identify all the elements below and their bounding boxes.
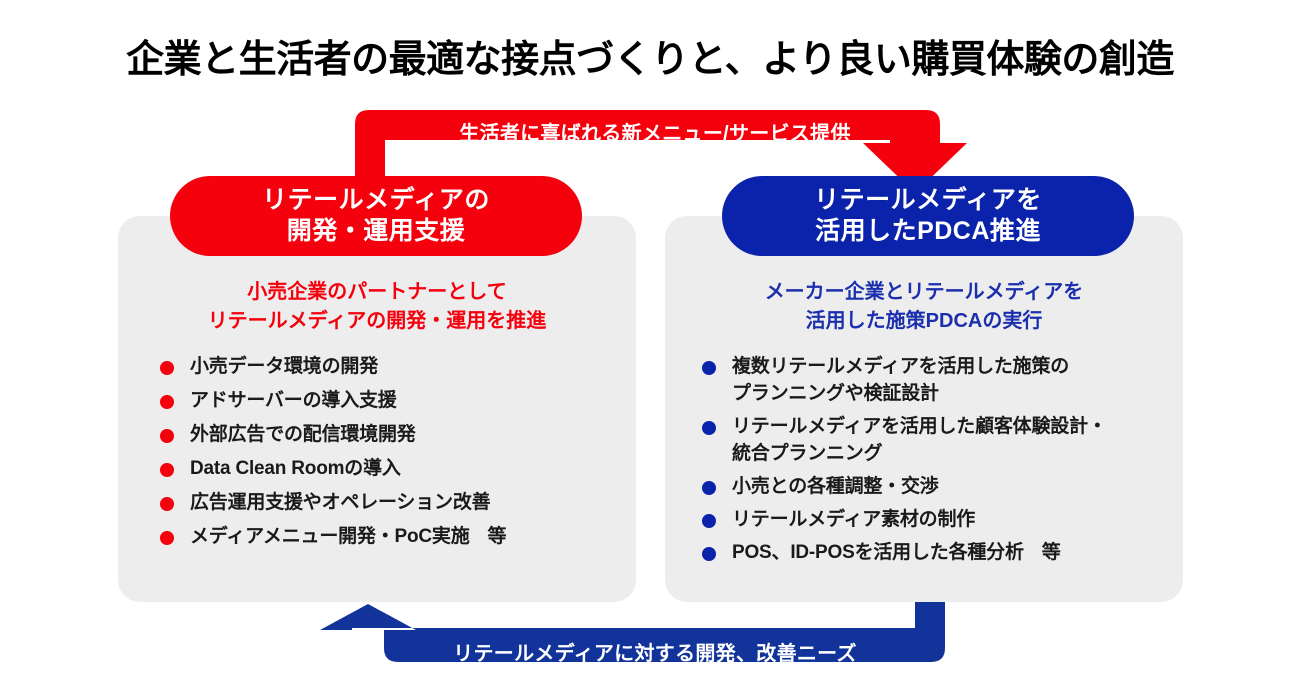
bullet-list-pdca: 複数リテールメディアを活用した施策のプランニングや検証設計リテールメディアを活用…	[702, 354, 1182, 573]
list-item-label: POS、ID-POSを活用した各種分析等	[732, 540, 1061, 567]
card-header-development-line2: 開発・運用支援	[287, 216, 466, 247]
list-item-label: 複数リテールメディアを活用した施策のプランニングや検証設計	[732, 354, 1069, 408]
slide-canvas: 企業と生活者の最適な接点づくりと、より良い購買体験の創造 リテールメディアの 開…	[0, 0, 1300, 700]
bottom-flow-arrow-label: リテールメディアに対する開発、改善ニーズ	[0, 637, 1300, 666]
list-item: Data Clean Roomの導入	[160, 456, 630, 483]
list-item: 外部広告での配信環境開発	[160, 422, 630, 449]
bullet-dot-icon	[702, 481, 716, 495]
list-item-label: リテールメディアを活用した顧客体験設計・統合プランニング	[732, 414, 1107, 468]
top-flow-arrow-label: 生活者に喜ばれる新メニュー/サービス提供	[0, 117, 1300, 146]
list-item: 複数リテールメディアを活用した施策のプランニングや検証設計	[702, 354, 1182, 408]
card-subhead-pdca: メーカー企業とリテールメディアを 活用した施策PDCAの実行	[665, 278, 1183, 336]
bullet-dot-icon	[160, 361, 174, 375]
card-subhead-development-line2: リテールメディアの開発・運用を推進	[118, 307, 636, 336]
bullet-dot-icon	[160, 531, 174, 545]
list-item-label: 広告運用支援やオペレーション改善	[190, 490, 490, 517]
bullet-list-development: 小売データ環境の開発アドサーバーの導入支援外部広告での配信環境開発Data Cl…	[160, 354, 630, 558]
list-item-suffix: 等	[1042, 542, 1061, 563]
list-item: POS、ID-POSを活用した各種分析等	[702, 540, 1182, 567]
list-item-label: 小売データ環境の開発	[190, 354, 378, 381]
list-item: アドサーバーの導入支援	[160, 388, 630, 415]
list-item-suffix: 等	[488, 526, 507, 547]
bullet-dot-icon	[160, 429, 174, 443]
list-item-label: Data Clean Roomの導入	[190, 456, 401, 483]
list-item: リテールメディアを活用した顧客体験設計・統合プランニング	[702, 414, 1182, 468]
list-item: 小売との各種調整・交渉	[702, 474, 1182, 501]
list-item-label: メディアメニュー開発・PoC実施等	[190, 524, 506, 551]
card-subhead-pdca-line2: 活用した施策PDCAの実行	[665, 307, 1183, 336]
list-item-label: アドサーバーの導入支援	[190, 388, 397, 415]
list-item: 広告運用支援やオペレーション改善	[160, 490, 630, 517]
bullet-dot-icon	[702, 361, 716, 375]
card-header-development: リテールメディアの 開発・運用支援	[170, 176, 582, 256]
bullet-dot-icon	[160, 497, 174, 511]
card-header-development-line1: リテールメディアの	[262, 185, 490, 216]
card-header-pdca: リテールメディアを 活用したPDCA推進	[722, 176, 1134, 256]
list-item-label: リテールメディア素材の制作	[732, 507, 975, 534]
card-header-pdca-line2: 活用したPDCA推進	[815, 216, 1041, 247]
card-subhead-pdca-line1: メーカー企業とリテールメディアを	[665, 278, 1183, 307]
bullet-dot-icon	[702, 421, 716, 435]
list-item: 小売データ環境の開発	[160, 354, 630, 381]
list-item-label: 小売との各種調整・交渉	[732, 474, 939, 501]
bullet-dot-icon	[702, 514, 716, 528]
list-item-label: 外部広告での配信環境開発	[190, 422, 416, 449]
bullet-dot-icon	[160, 463, 174, 477]
card-subhead-development-line1: 小売企業のパートナーとして	[118, 278, 636, 307]
bullet-dot-icon	[702, 547, 716, 561]
card-header-pdca-line1: リテールメディアを	[814, 185, 1042, 216]
card-subhead-development: 小売企業のパートナーとして リテールメディアの開発・運用を推進	[118, 278, 636, 336]
bullet-dot-icon	[160, 395, 174, 409]
list-item: リテールメディア素材の制作	[702, 507, 1182, 534]
list-item: メディアメニュー開発・PoC実施等	[160, 524, 630, 551]
